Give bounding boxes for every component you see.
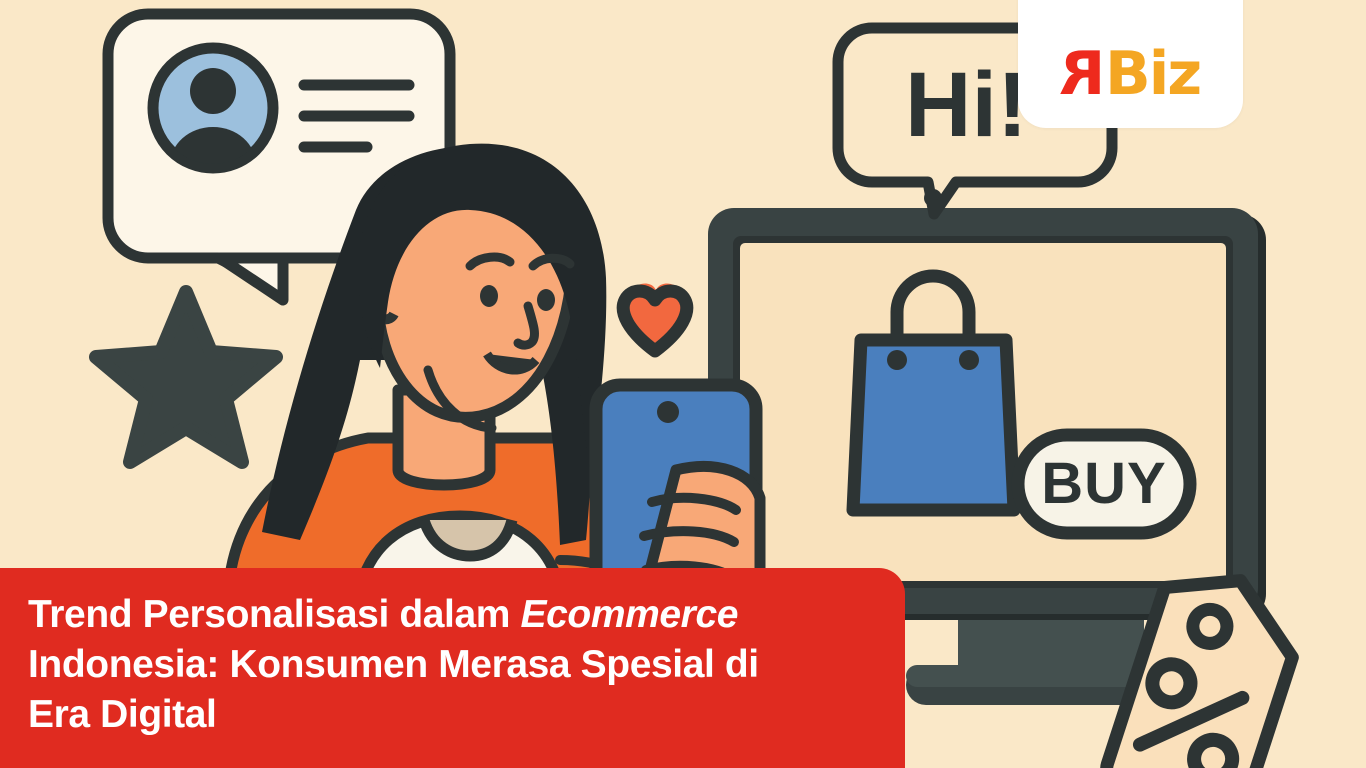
woman-eye-right xyxy=(537,289,555,311)
woman-eye-left xyxy=(480,285,498,307)
greeting-bubble-text: Hi! xyxy=(905,54,1028,156)
title-line1-prefix: Trend Personalisasi dalam xyxy=(28,593,521,636)
logo-word-biz: Biz xyxy=(1105,39,1200,109)
title-line3: Era Digital xyxy=(28,693,217,736)
avatar-head xyxy=(190,68,236,114)
article-title-banner: Trend Personalisasi dalam Ecommerce Indo… xyxy=(0,568,905,768)
shopping-bag-body xyxy=(853,340,1014,510)
promo-banner-canvas: BUY Hi! xyxy=(0,0,1366,768)
page-title: Trend Personalisasi dalam Ecommerce Indo… xyxy=(28,590,845,740)
rbiz-logo-card[interactable]: RBiz xyxy=(1018,0,1243,128)
rbiz-logo-wordmark: RBiz xyxy=(1061,44,1200,104)
title-line1-emphasis: Ecommerce xyxy=(521,593,739,636)
logo-letter-r: R xyxy=(1061,44,1105,104)
phone-camera-dot xyxy=(657,401,679,423)
buy-button[interactable]: BUY xyxy=(1018,435,1190,533)
buy-button-label: BUY xyxy=(1041,451,1166,516)
title-line2: Indonesia: Konsumen Merasa Spesial di xyxy=(28,643,759,686)
shopping-bag-rivet-right xyxy=(959,350,979,370)
shopping-bag-rivet-left xyxy=(887,350,907,370)
